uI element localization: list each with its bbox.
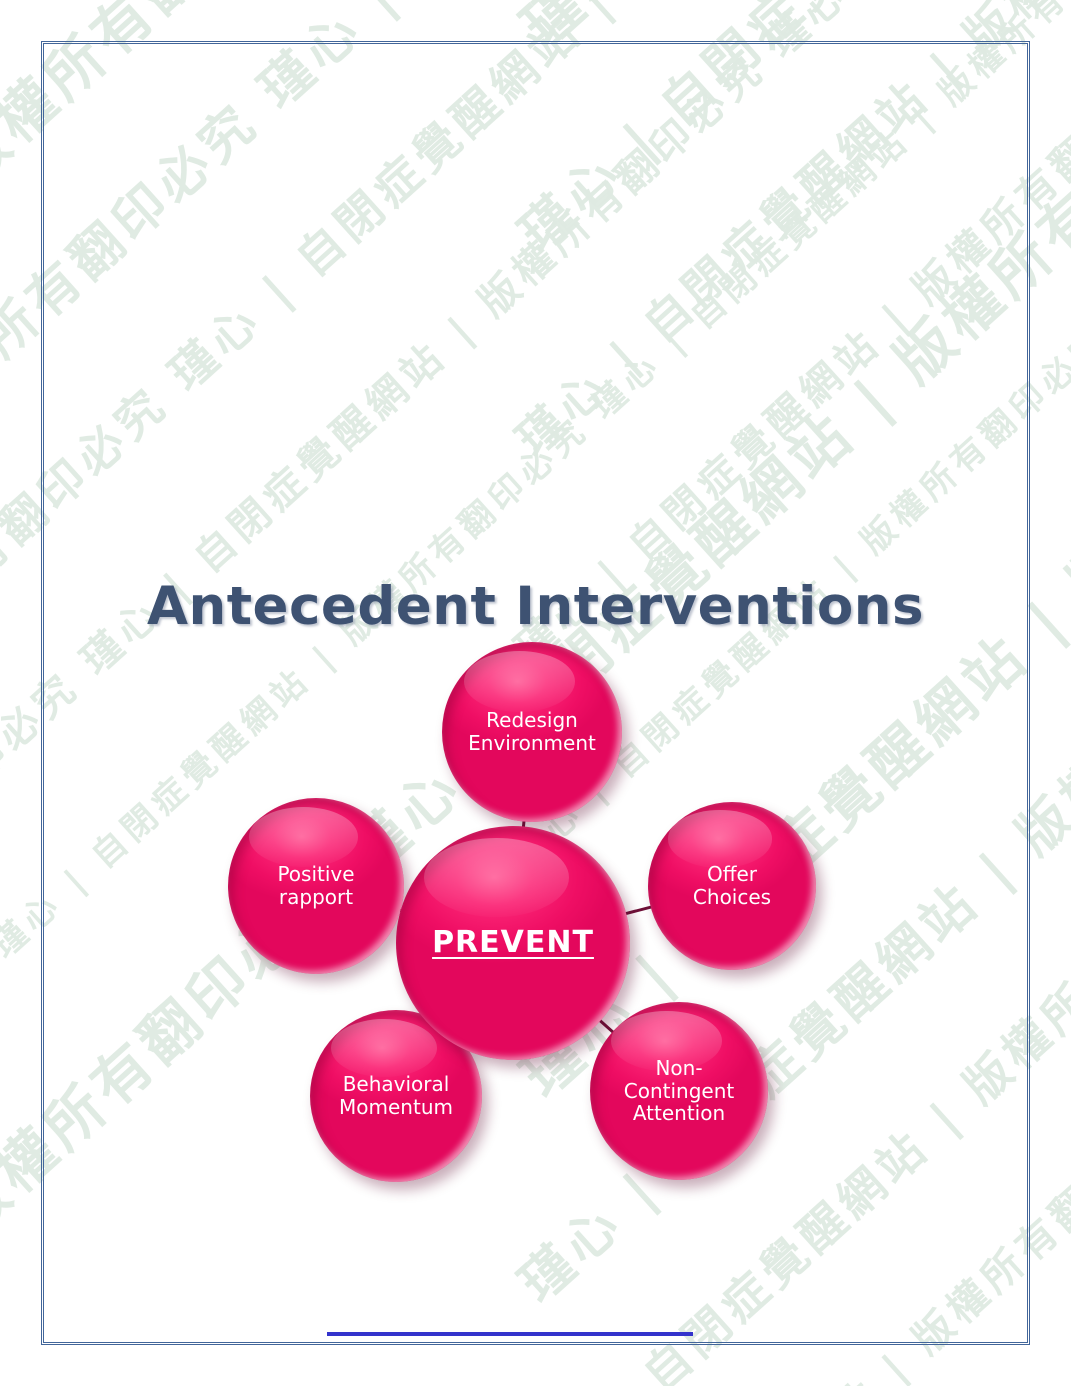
node-behavioral-momentum-label: Behavioral Momentum — [331, 1073, 461, 1118]
node-non-contingent-attention-label: Non- Contingent Attention — [616, 1057, 742, 1125]
node-label-line: Redesign — [486, 708, 578, 732]
node-label-line: Attention — [633, 1101, 725, 1125]
node-prevent-center-label: PREVENT — [424, 926, 602, 960]
node-offer-choices-label: Offer Choices — [685, 863, 779, 908]
node-offer-choices[interactable]: Offer Choices — [648, 802, 816, 970]
node-positive-rapport[interactable]: Positive rapport — [228, 798, 404, 974]
page-title: Antecedent Interventions — [0, 576, 1071, 637]
node-label-line: Contingent — [624, 1079, 734, 1103]
document-page: 瑾心 | 自閉症覺醒網站 | 版權所有翻印必究 瑾心 | 自閉症覺醒網站 | 版… — [0, 0, 1071, 1386]
node-label-line: Non- — [655, 1056, 702, 1080]
footer-hyperlink[interactable] — [327, 1318, 693, 1336]
node-redesign-environment-label: Redesign Environment — [460, 709, 604, 754]
node-label-line: Behavioral — [343, 1072, 450, 1096]
node-redesign-environment[interactable]: Redesign Environment — [442, 642, 622, 822]
node-label-line: Offer — [707, 862, 757, 886]
node-positive-rapport-label: Positive rapport — [269, 863, 362, 908]
node-label-line: rapport — [279, 885, 353, 909]
prevent-diagram: Redesign Environment Offer Choices Non- … — [210, 630, 870, 1190]
node-non-contingent-attention[interactable]: Non- Contingent Attention — [590, 1002, 768, 1180]
node-label-line: Choices — [693, 885, 771, 909]
page-content: Antecedent Interventions Redesign Enviro… — [0, 0, 1071, 1386]
node-label-line: Environment — [468, 731, 596, 755]
node-label-line: Positive — [277, 862, 354, 886]
node-label-line: Momentum — [339, 1095, 453, 1119]
node-prevent-center[interactable]: PREVENT — [396, 826, 630, 1060]
